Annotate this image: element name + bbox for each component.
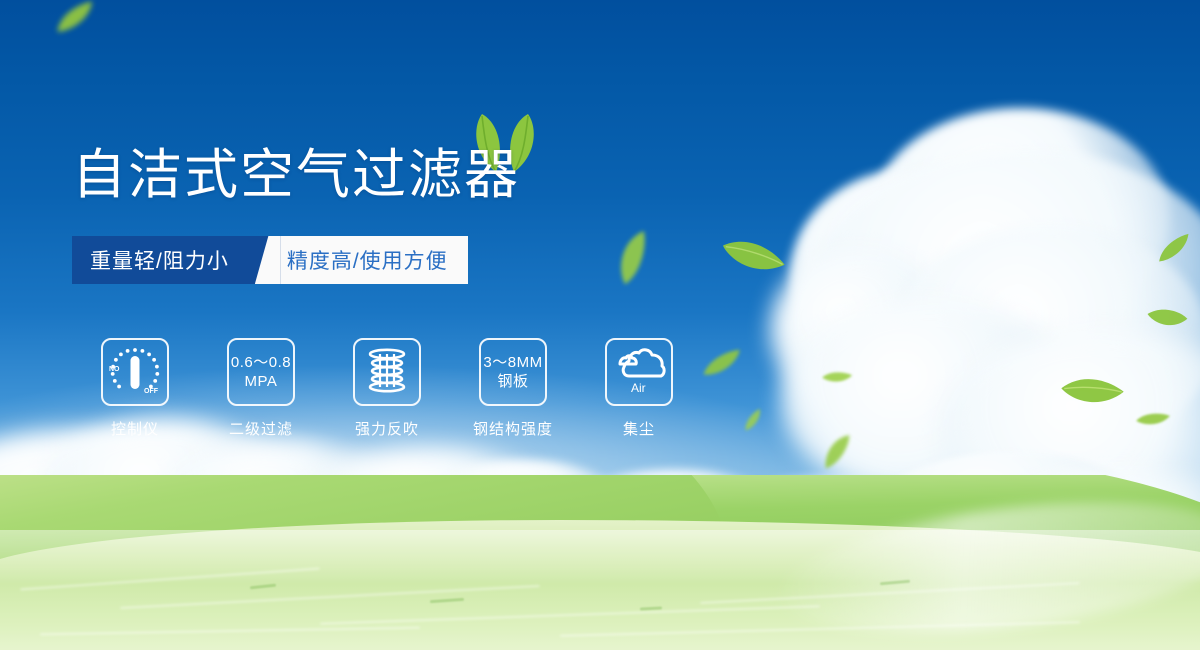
- tagline-right: 精度高/使用方便: [281, 236, 468, 284]
- hero-banner: 自洁式空气过滤器 重量轻/阻力小 精度高/使用方便: [0, 0, 1200, 650]
- steel-line1: 3～8MM: [483, 353, 542, 372]
- feature-label: 二级过滤: [229, 418, 293, 439]
- feature-item-dust[interactable]: Air 集尘: [576, 338, 702, 439]
- air-label: Air: [631, 381, 646, 395]
- feature-label: 强力反吹: [355, 418, 419, 439]
- tagline-left: 重量轻/阻力小: [72, 236, 255, 284]
- pressure-value-icon: 0.6～0.8 MPA: [227, 338, 295, 406]
- pressure-line1: 0.6～0.8: [231, 353, 291, 372]
- tagline-ribbon: 重量轻/阻力小 精度高/使用方便: [72, 236, 468, 284]
- gauge-off-label: OFF: [144, 388, 159, 395]
- steel-line2: 钢板: [497, 372, 528, 391]
- feature-item-pressure[interactable]: 0.6～0.8 MPA 二级过滤: [198, 338, 324, 439]
- filter-coil-icon: [353, 338, 421, 406]
- feature-label: 控制仪: [111, 418, 159, 439]
- feature-label: 集尘: [623, 418, 655, 439]
- feature-item-controller[interactable]: NO OFF 控制仪: [72, 338, 198, 439]
- feature-item-steel[interactable]: 3～8MM 钢板 钢结构强度: [450, 338, 576, 439]
- feature-item-blowback[interactable]: 强力反吹: [324, 338, 450, 439]
- gauge-controller-icon: NO OFF: [101, 338, 169, 406]
- banner-content: 自洁式空气过滤器 重量轻/阻力小 精度高/使用方便: [0, 0, 1200, 650]
- feature-label: 钢结构强度: [473, 418, 553, 439]
- feature-list: NO OFF 控制仪 0.6～0.8 MPA 二级过滤: [72, 338, 702, 439]
- ribbon-divider: [255, 236, 281, 284]
- gauge-on-label: NO: [109, 366, 120, 373]
- air-cloud-icon: Air: [605, 338, 673, 406]
- page-title: 自洁式空气过滤器: [72, 144, 520, 206]
- steel-plate-icon: 3～8MM 钢板: [479, 338, 547, 406]
- pressure-line2: MPA: [245, 372, 278, 391]
